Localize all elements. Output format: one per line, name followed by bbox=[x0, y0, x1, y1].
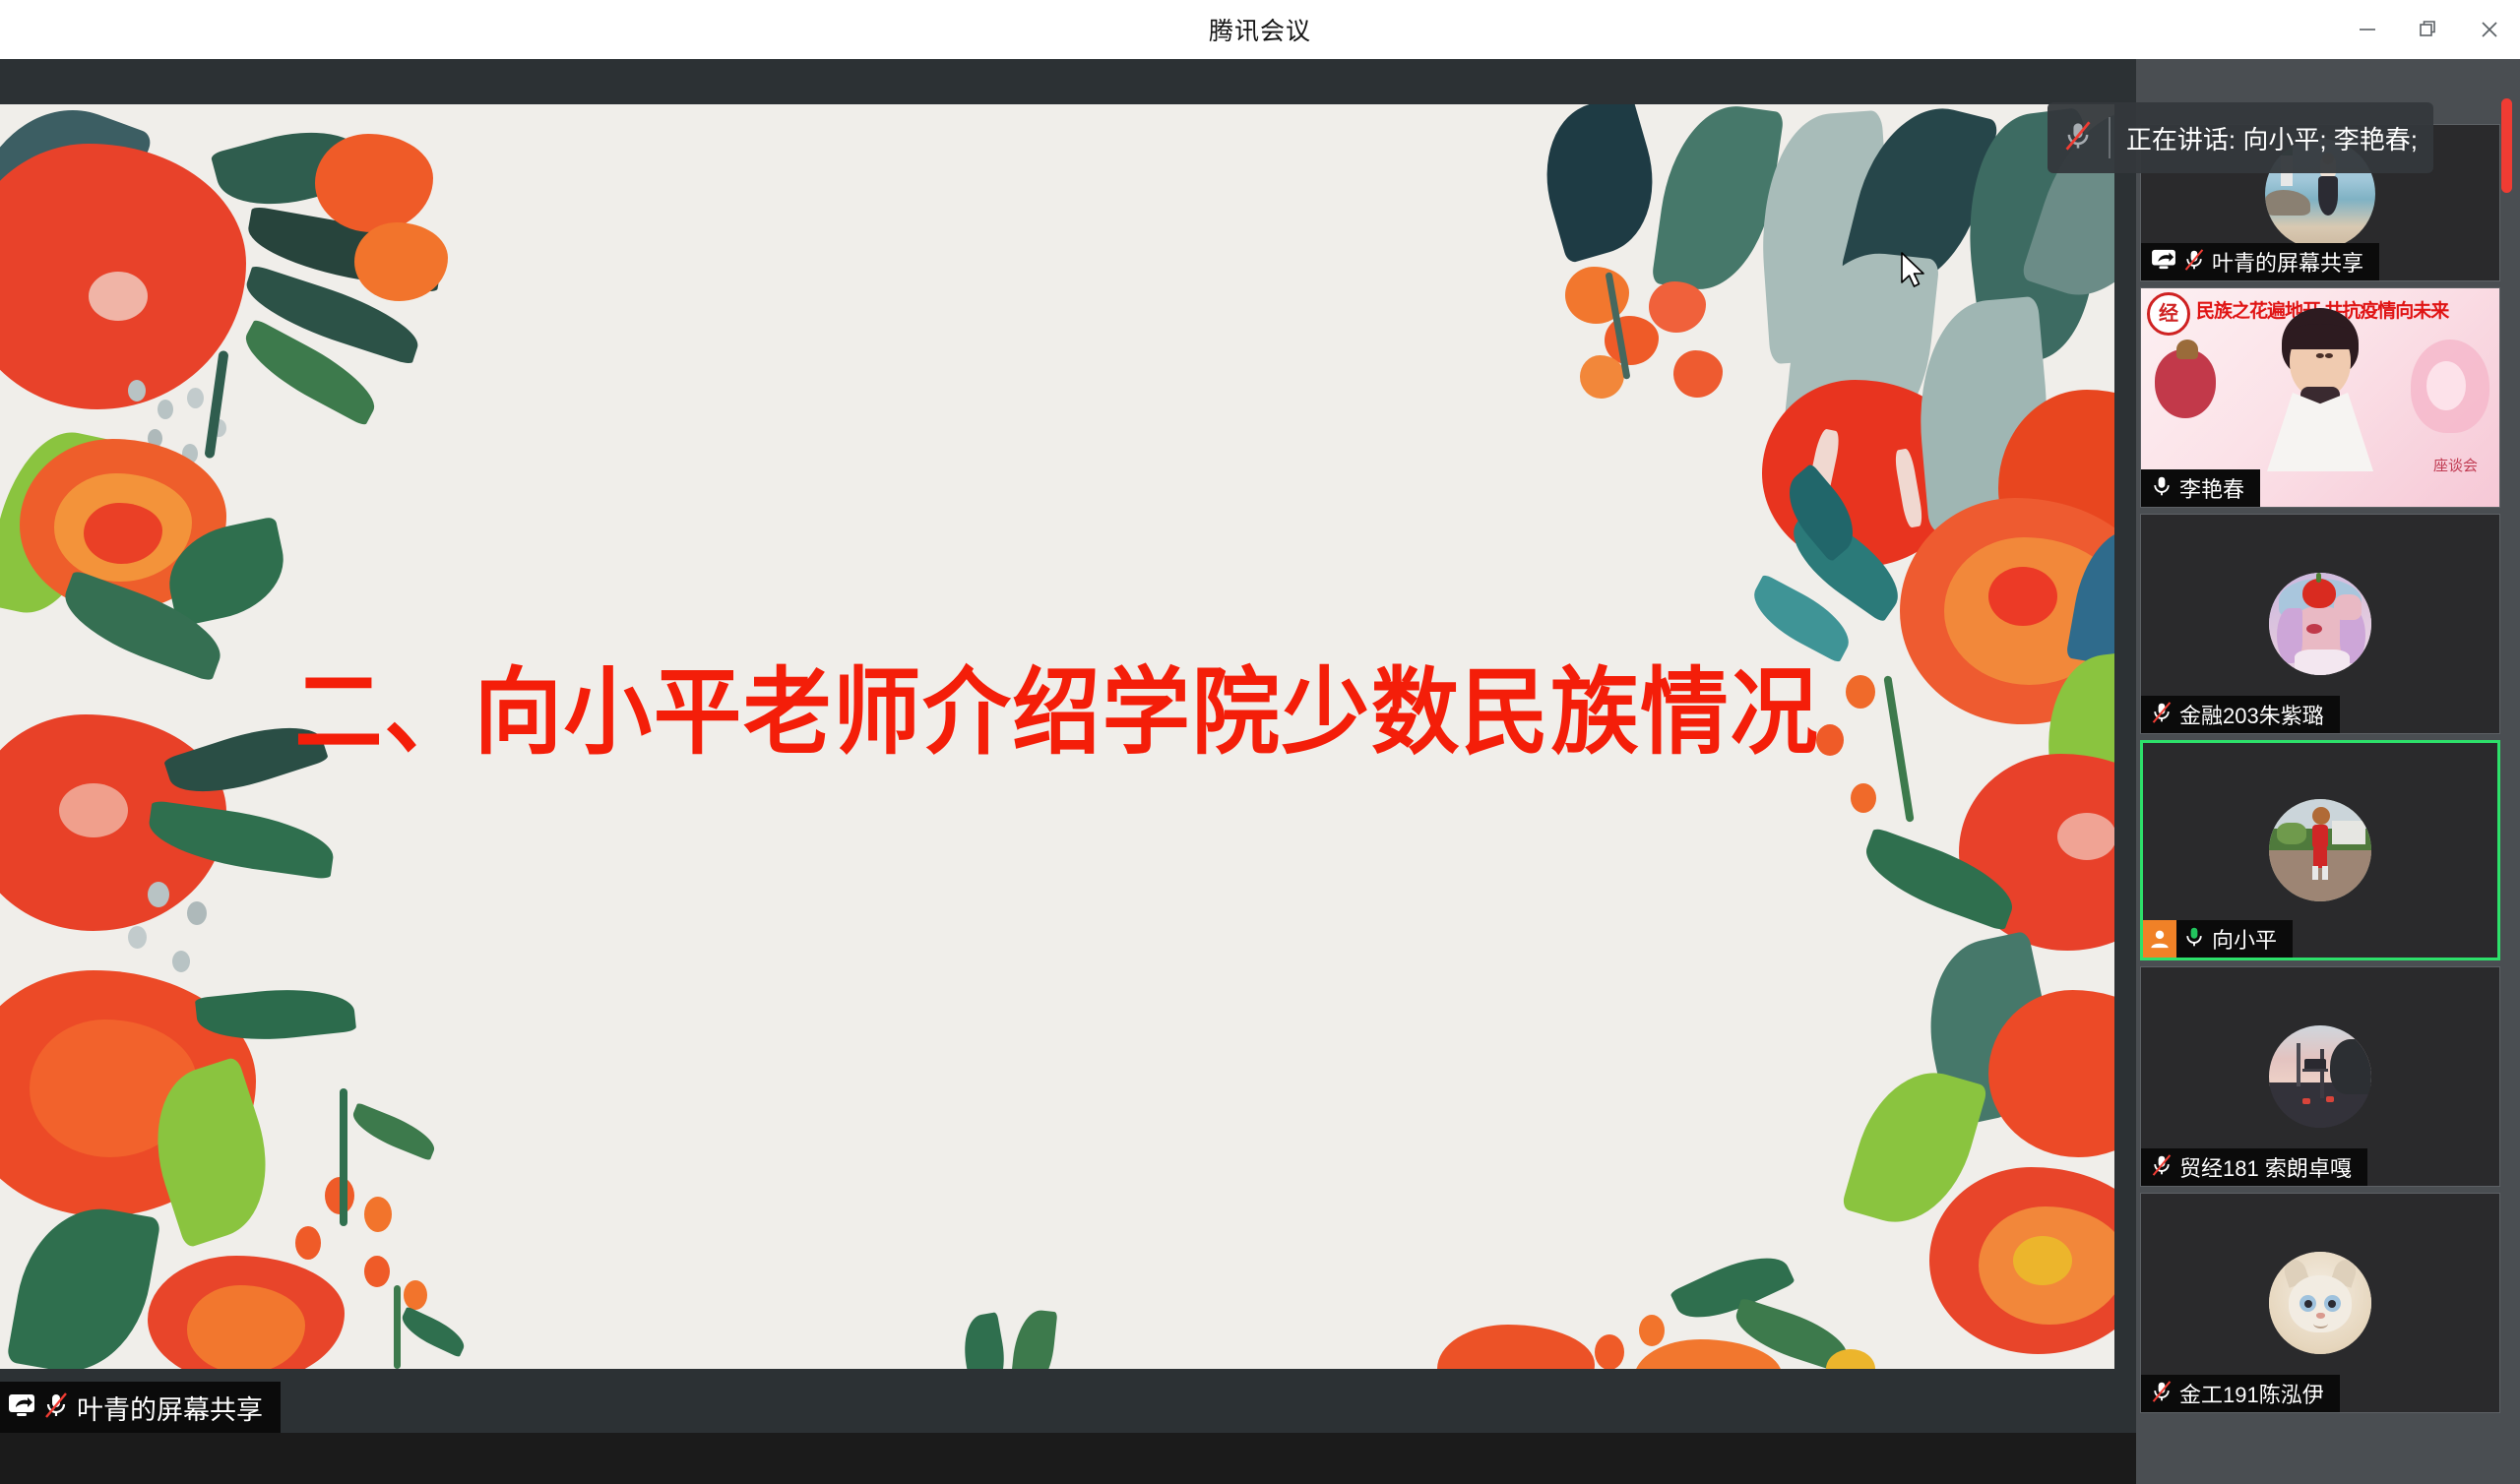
leaf-shape bbox=[6, 1197, 161, 1369]
mic-muted-icon bbox=[2183, 248, 2205, 277]
participant-name: 向小平 bbox=[2212, 923, 2277, 955]
banner-divider bbox=[2109, 117, 2110, 158]
video-subtext: 座谈会 bbox=[2433, 455, 2478, 475]
flower-highlight bbox=[2057, 813, 2114, 860]
participant-tile-active[interactable]: 向小平 bbox=[2140, 740, 2500, 960]
berry-shape bbox=[187, 901, 207, 925]
mic-muted-icon bbox=[43, 1391, 69, 1424]
participant-sidebar[interactable]: 叶青的屏幕共享 经 民族之花遍地开 共抗疫情向未来 bbox=[2136, 59, 2520, 1484]
avatar bbox=[2269, 1252, 2371, 1354]
window-controls bbox=[2337, 0, 2520, 59]
berry-shape bbox=[295, 1226, 321, 1260]
restore-button[interactable] bbox=[2398, 0, 2459, 59]
leaf-shape bbox=[1527, 104, 1671, 264]
speaking-banner-text: 正在讲话: 向小平; 李艳春; bbox=[2126, 120, 2418, 156]
berry-shape bbox=[1639, 1315, 1665, 1346]
participant-name: 贸经181 索朗卓嘎 bbox=[2179, 1151, 2352, 1183]
mic-muted-icon bbox=[2151, 1153, 2173, 1182]
sidebar-scrollbar-track[interactable] bbox=[2500, 59, 2514, 1484]
berry-shape bbox=[364, 1197, 392, 1232]
mic-muted-icon bbox=[2151, 701, 2173, 729]
presentation-slide: 二、向小平老师介绍学院少数民族情况 bbox=[0, 104, 2114, 1369]
berry-shape bbox=[172, 951, 190, 972]
window-title: 腾讯会议 bbox=[1209, 12, 1311, 47]
berry-shape bbox=[364, 1256, 390, 1287]
participant-tile[interactable]: 金融203朱紫璐 bbox=[2140, 514, 2500, 734]
leaf-shape bbox=[347, 1102, 440, 1161]
participant-namebar: 叶青的屏幕共享 bbox=[2141, 243, 2379, 280]
berry-shape bbox=[128, 926, 147, 949]
stem-shape bbox=[204, 350, 228, 459]
mic-on-icon bbox=[2183, 925, 2205, 954]
participant-name: 金融203朱紫璐 bbox=[2179, 699, 2324, 730]
stem-shape bbox=[340, 1088, 347, 1226]
participant-namebar: 向小平 bbox=[2143, 920, 2293, 958]
berry-shape bbox=[187, 388, 204, 408]
flower-highlight bbox=[59, 783, 128, 837]
participant-namebar: 金融203朱紫璐 bbox=[2141, 696, 2340, 733]
meeting-toolbar-strip bbox=[0, 59, 2136, 104]
participant-tile[interactable]: 经 民族之花遍地开 共抗疫情向未来 座谈会 bbox=[2140, 287, 2500, 508]
flower-shape bbox=[1673, 350, 1723, 398]
host-badge-icon bbox=[2143, 920, 2176, 958]
participant-name: 李艳春 bbox=[2179, 472, 2244, 504]
avatar bbox=[2269, 799, 2371, 901]
mic-muted-icon bbox=[2063, 120, 2093, 156]
flower-shape bbox=[1437, 1325, 1595, 1369]
sidebar-scrollbar-thumb[interactable] bbox=[2501, 98, 2512, 193]
flower-shape bbox=[1580, 355, 1624, 399]
screen-share-icon bbox=[2151, 249, 2176, 276]
participant-namebar: 金工191陈泓伊 bbox=[2141, 1375, 2340, 1412]
slide-title: 二、向小平老师介绍学院少数民族情况 bbox=[74, 636, 2041, 773]
minimize-button[interactable] bbox=[2337, 0, 2398, 59]
participant-tile[interactable]: 贸经181 索朗卓嘎 bbox=[2140, 966, 2500, 1187]
flower-shape bbox=[187, 1285, 305, 1369]
berry-shape bbox=[128, 380, 146, 402]
flower-highlight bbox=[89, 272, 148, 321]
berry-shape bbox=[1595, 1334, 1624, 1369]
close-button[interactable] bbox=[2459, 0, 2520, 59]
stem-shape bbox=[394, 1285, 401, 1369]
berry-shape bbox=[148, 882, 169, 907]
berry-shape bbox=[404, 1280, 427, 1310]
screen-share-icon bbox=[8, 1393, 35, 1422]
leaf-shape bbox=[958, 1312, 1010, 1369]
flower-center bbox=[2013, 1236, 2072, 1285]
participant-namebar: 李艳春 bbox=[2141, 469, 2260, 507]
flower-shape bbox=[1649, 281, 1706, 333]
participant-name: 叶青的屏幕共享 bbox=[2212, 246, 2363, 278]
avatar bbox=[2269, 1025, 2371, 1128]
mic-muted-icon bbox=[2151, 1380, 2173, 1408]
participant-name: 金工191陈泓伊 bbox=[2179, 1378, 2324, 1409]
berry-shape bbox=[1851, 783, 1876, 813]
title-bar: 腾讯会议 bbox=[0, 0, 2520, 59]
avatar bbox=[2269, 573, 2371, 675]
screen-share-label-text: 叶青的屏幕共享 bbox=[77, 1389, 263, 1427]
flower-shape bbox=[315, 134, 433, 232]
participant-tile[interactable]: 金工191陈泓伊 bbox=[2140, 1193, 2500, 1413]
participant-namebar: 贸经181 索朗卓嘎 bbox=[2141, 1148, 2367, 1186]
participant-list: 叶青的屏幕共享 经 民族之花遍地开 共抗疫情向未来 bbox=[2136, 59, 2504, 1484]
tencent-meeting-window: 腾讯会议 bbox=[0, 0, 2520, 1484]
berry-shape bbox=[157, 400, 173, 419]
flower-center bbox=[1988, 567, 2057, 626]
screen-share-label: 叶青的屏幕共享 bbox=[0, 1382, 281, 1433]
shared-screen-stage[interactable]: 二、向小平老师介绍学院少数民族情况 叶青的屏幕共享 bbox=[0, 104, 2136, 1433]
leaf-shape bbox=[397, 1306, 470, 1357]
leaf-shape bbox=[1010, 1308, 1058, 1369]
mic-on-icon bbox=[2151, 474, 2173, 503]
speaking-banner: 正在讲话: 向小平; 李艳春; bbox=[2047, 102, 2433, 173]
